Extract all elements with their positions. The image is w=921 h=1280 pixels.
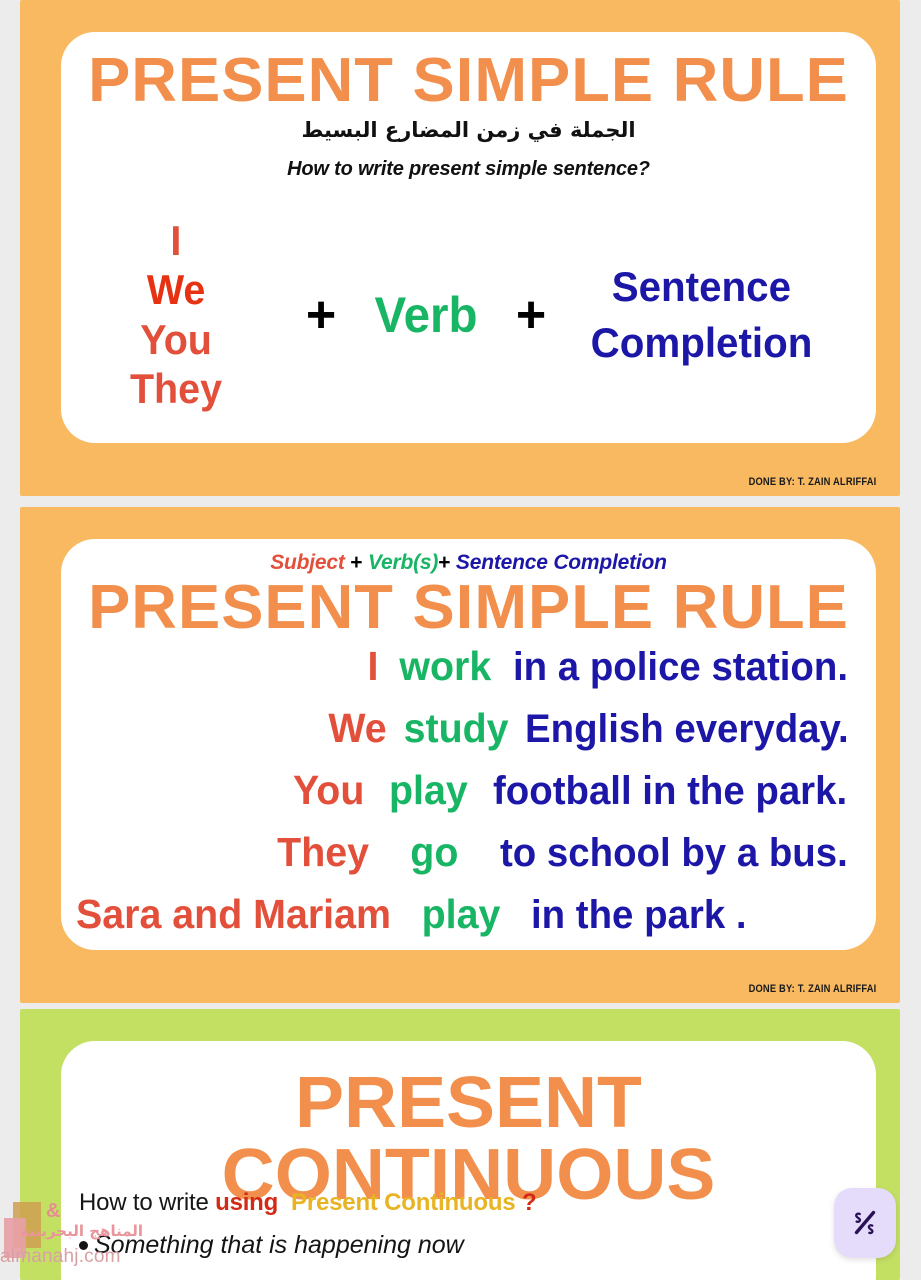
row-verb: play bbox=[394, 891, 528, 938]
worksheet-page: PRESENT SIMPLE RULE الجملة في زمن المضار… bbox=[0, 0, 921, 1280]
arabic-subtitle: الجملة في زمن المضارع البسيط bbox=[61, 118, 876, 142]
subject-pronoun-we: We bbox=[147, 266, 206, 313]
table-row: We study English everyday. bbox=[61, 705, 862, 767]
row-completion: in the park . bbox=[531, 893, 849, 938]
page-title-present-simple-rule: PRESENT SIMPLE RULE bbox=[53, 50, 884, 112]
bullet-dot-icon bbox=[79, 1241, 88, 1250]
page-title-present-simple-rule: PRESENT SIMPLE RULE bbox=[53, 577, 884, 639]
credit-line: DONE BY: T. ZAIN ALRIFFAI bbox=[748, 476, 876, 488]
slide-present-simple-rule-examples: Subject + Verb(s)+ Sentence Completion P… bbox=[20, 507, 900, 1003]
row-verb: play bbox=[367, 767, 491, 814]
bullet-text: Something that is happening now bbox=[94, 1231, 464, 1260]
subject-pronoun-they: They bbox=[130, 365, 222, 412]
row-subject: I bbox=[74, 643, 379, 690]
row-verb: go bbox=[372, 829, 497, 876]
magic-wand-sparkle-icon bbox=[848, 1206, 882, 1240]
row-completion: to school by a bus. bbox=[500, 831, 848, 876]
sentence-completion-column: Sentence Completion bbox=[561, 266, 841, 364]
formula-row: I We You They + Verb + Sentence Completi… bbox=[61, 194, 876, 435]
slide-card-white: PRESENT SIMPLE RULE الجملة في زمن المضار… bbox=[61, 32, 876, 443]
legend-plus-1: + bbox=[350, 551, 362, 574]
magic-wand-fab-button[interactable] bbox=[834, 1188, 896, 1258]
question-using-word: using bbox=[215, 1189, 278, 1216]
list-item: Something that is happening now bbox=[79, 1231, 464, 1260]
table-row: You play football in the park. bbox=[61, 767, 862, 829]
row-subject: Sara and Mariam bbox=[74, 891, 391, 938]
slide-card-white: PRESENT CONTINUOUS How to write using Pr… bbox=[61, 1041, 876, 1280]
row-verb: work bbox=[381, 643, 510, 690]
row-subject: You bbox=[73, 767, 364, 814]
legend-completion: Sentence Completion bbox=[456, 551, 667, 574]
table-row: I work in a police station. bbox=[61, 643, 862, 705]
row-completion: English everyday. bbox=[525, 707, 849, 752]
question-line: How to write using Present Continuous ? bbox=[79, 1189, 536, 1217]
row-completion: football in the park. bbox=[493, 769, 847, 814]
formula-legend: Subject + Verb(s)+ Sentence Completion bbox=[61, 551, 876, 575]
table-row: Sara and Mariam play in the park . bbox=[61, 891, 862, 953]
plus-sign-2: + bbox=[501, 289, 561, 341]
plus-sign-1: + bbox=[291, 289, 351, 341]
question-mark: ? bbox=[522, 1189, 536, 1216]
subject-pronoun-i: I bbox=[171, 217, 182, 264]
slide-present-simple-rule-formula: PRESENT SIMPLE RULE الجملة في زمن المضار… bbox=[20, 0, 900, 496]
row-subject: They bbox=[73, 829, 369, 876]
legend-plus-2: + bbox=[438, 551, 450, 574]
question-tense-name: Present Continuous bbox=[291, 1189, 515, 1216]
english-subtitle: How to write present simple sentence? bbox=[61, 158, 876, 181]
row-verb: study bbox=[389, 705, 522, 752]
legend-subject: Subject bbox=[270, 551, 344, 574]
question-plain-text: How to write bbox=[79, 1189, 209, 1216]
legend-verb: Verb(s) bbox=[368, 551, 438, 574]
row-completion: in a police station. bbox=[513, 645, 848, 690]
credit-line: DONE BY: T. ZAIN ALRIFFAI bbox=[748, 983, 876, 995]
verb-slot: Verb bbox=[355, 286, 498, 344]
examples-table: I work in a police station. We study Eng… bbox=[61, 643, 862, 953]
table-row: They go to school by a bus. bbox=[61, 829, 862, 891]
row-subject: We bbox=[74, 705, 387, 752]
completion-line-1: Sentence bbox=[611, 266, 790, 308]
subject-pronoun-you: You bbox=[140, 316, 212, 363]
subject-column: I We You They bbox=[61, 217, 291, 411]
slide-present-continuous: PRESENT CONTINUOUS How to write using Pr… bbox=[20, 1009, 900, 1280]
slide-card-white: Subject + Verb(s)+ Sentence Completion P… bbox=[61, 539, 876, 950]
completion-line-2: Completion bbox=[590, 322, 812, 364]
